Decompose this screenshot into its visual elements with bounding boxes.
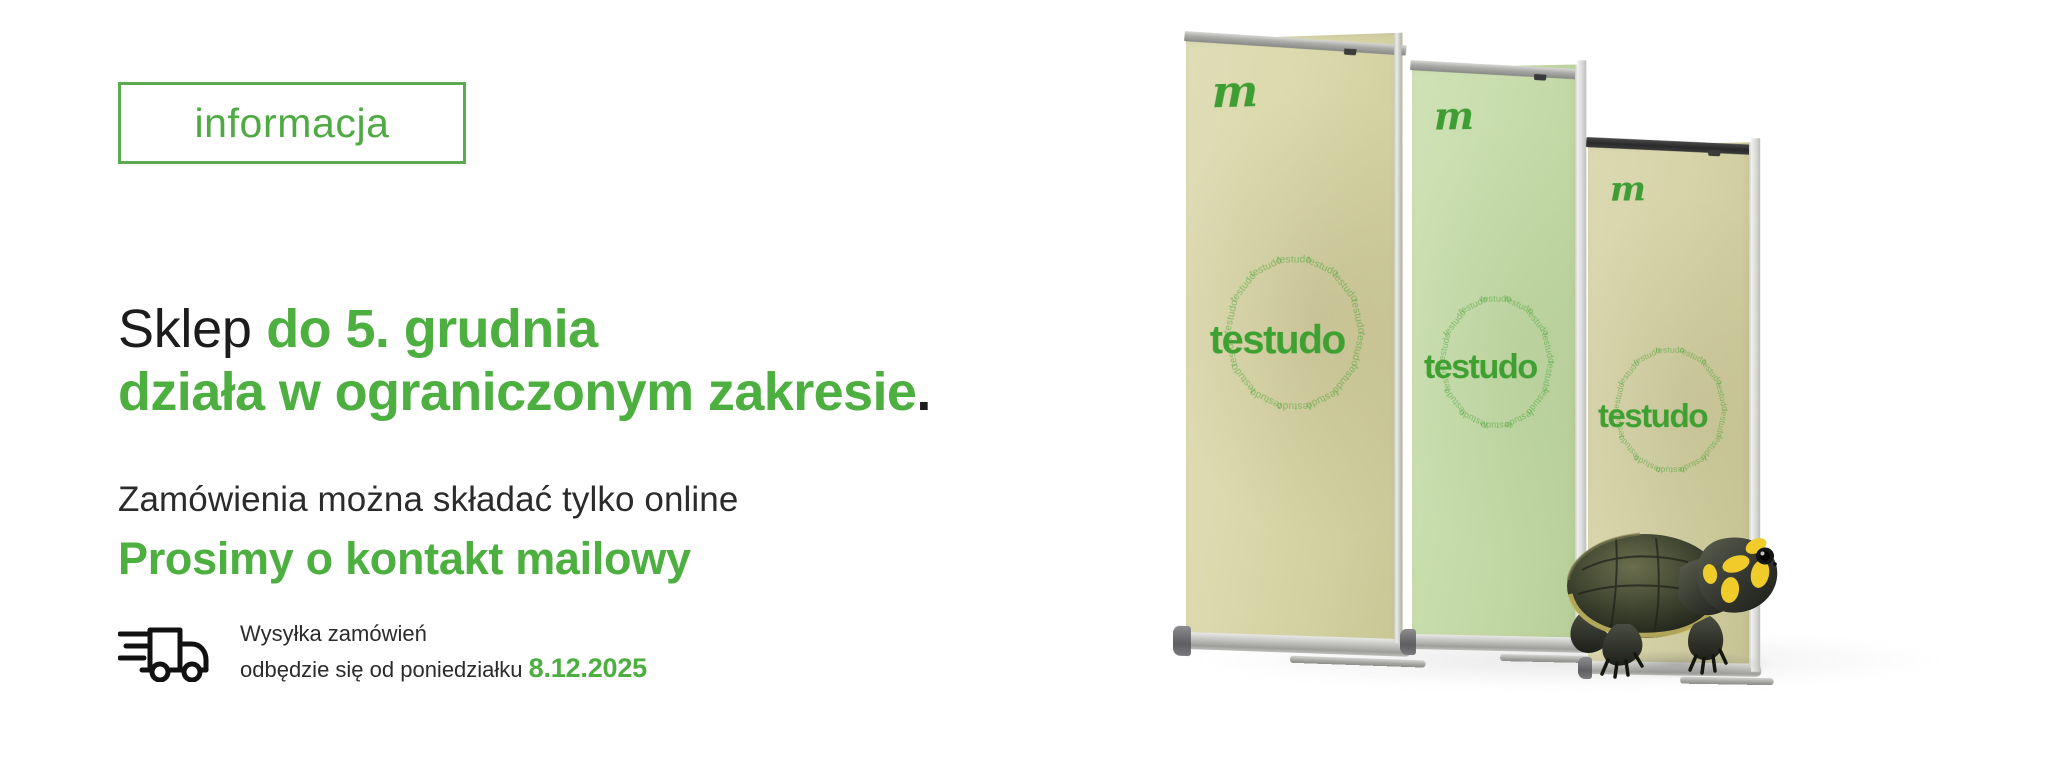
rollup-banner-middle: m testudotestudotestudotestudotestudotes… (1412, 64, 1581, 643)
delivery-truck-icon (118, 624, 210, 682)
ring-word: testudo (1229, 271, 1259, 305)
ring-word: testudo (1348, 331, 1367, 367)
ring-word: testudo (1248, 386, 1284, 411)
ring-word: testudo (1503, 408, 1536, 430)
rollup-cloth-left: m testudotestudotestudotestudotestudotes… (1186, 33, 1403, 648)
ring-word: testudo (1615, 358, 1641, 387)
rollup-mockup-scene: m testudotestudotestudotestudotestudotes… (1140, 0, 2048, 771)
headline-accent-2: działa w ograniczonym zakresie (118, 362, 916, 422)
ring-word: testudo (1330, 361, 1361, 395)
wordmark-middle: testudo (1424, 350, 1537, 384)
subtext-block: Zamówienia można składać tylko online Pr… (118, 478, 1118, 585)
ring-word: testudo (1615, 433, 1641, 462)
ring-word: testudo (1481, 294, 1512, 304)
headline-line-2: działa w ograniczonym zakresie. (118, 361, 1118, 424)
ring-word: testudo (1678, 454, 1709, 476)
ring-word: testudo (1503, 294, 1536, 317)
ring-word: testudo (1655, 345, 1684, 355)
rollup-base-cap-left (1173, 626, 1191, 657)
ring-word: testudo (1714, 381, 1730, 412)
ring-word: testudo (1524, 386, 1551, 417)
text-column: informacja Sklep do 5. grudnia działa w … (118, 0, 1178, 771)
shipping-text: Wysyłka zamówień odbędzie się od poniedz… (240, 618, 647, 688)
ring-word: testudo (1457, 294, 1489, 317)
ring-word: testudo (1632, 345, 1663, 367)
ring-word: testudo (1248, 255, 1284, 280)
wordmark-left: testudo (1210, 320, 1345, 361)
headline-accent-1: do 5. grudnia (266, 299, 597, 359)
ring-word: testudo (1714, 408, 1730, 439)
ring-word: testudo (1348, 298, 1367, 334)
turtle-illustration (1560, 498, 1810, 683)
ring-word: testudo (1277, 254, 1312, 265)
ring-word: testudo (1699, 433, 1725, 462)
headline: Sklep do 5. grudnia działa w ograniczony… (118, 298, 1118, 424)
rollup-banner-left: m testudotestudotestudotestudotestudotes… (1186, 33, 1403, 648)
ring-word: testudo (1229, 361, 1259, 395)
ring-word: testudo (1441, 307, 1468, 338)
monogram-icon: m (1610, 172, 1646, 207)
headline-period: . (916, 362, 931, 422)
subtext-regular: Zamówienia można składać tylko online (118, 478, 1118, 522)
info-badge-label: informacja (194, 103, 389, 144)
rollup-cloth-middle: m testudotestudotestudotestudotestudotes… (1412, 64, 1581, 643)
rollup-pole-left (1394, 33, 1401, 644)
ring-word: testudo (1524, 307, 1551, 338)
ring-word: testudo (1481, 420, 1512, 430)
ring-word: testudo (1655, 465, 1684, 475)
shipping-line-2: odbędzie się od poniedziałku 8.12.2025 (240, 649, 647, 687)
shipping-date: 8.12.2025 (529, 653, 647, 683)
rollup-base-cap-middle (1400, 629, 1416, 655)
info-badge: informacja (118, 82, 466, 164)
ring-word: testudo (1699, 358, 1725, 387)
subtext-strong: Prosimy o kontakt mailowy (118, 532, 1118, 585)
headline-line-1: Sklep do 5. grudnia (118, 298, 1118, 361)
ring-word: testudo (1277, 400, 1312, 411)
shipping-line-1: Wysyłka zamówień (240, 618, 647, 649)
ring-word: testudo (1632, 453, 1663, 475)
ring-word: testudo (1304, 386, 1340, 411)
ring-word: testudo (1540, 360, 1557, 393)
monogram-icon: m (1212, 70, 1259, 116)
shipping-line-2-text: odbędzie się od poniedziałku (240, 657, 529, 682)
wordmark-right: testudo (1598, 399, 1707, 432)
ring-word: testudo (1441, 386, 1468, 417)
headline-plain: Sklep (118, 299, 266, 359)
ring-word: testudo (1678, 345, 1709, 367)
ring-word: testudo (1457, 408, 1489, 431)
monogram-icon: m (1434, 97, 1474, 136)
ring-word: testudo (1304, 255, 1340, 280)
ring-word: testudo (1330, 270, 1361, 304)
shipping-info: Wysyłka zamówień odbędzie się od poniedz… (118, 618, 647, 688)
promo-banner: informacja Sklep do 5. grudnia działa w … (0, 0, 2048, 771)
ring-word: testudo (1540, 332, 1557, 365)
